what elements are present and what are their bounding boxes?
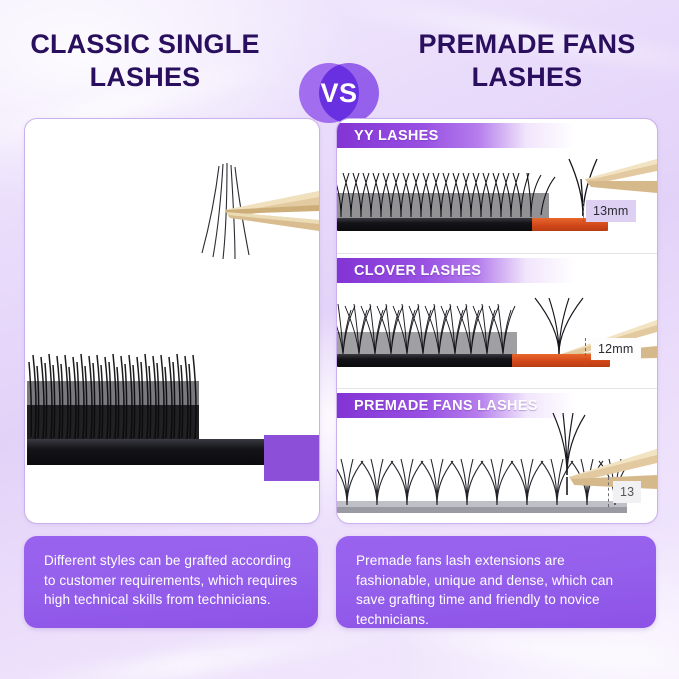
measurement-label-premade: 13 — [613, 481, 641, 503]
section-label: PREMADE FANS LASHES — [354, 398, 538, 414]
lash-strip-base-clover — [337, 354, 513, 367]
section-yy-lashes: YY LASHES — [337, 119, 657, 253]
section-clover-lashes: CLOVER LASHES — [337, 254, 657, 388]
classic-single-lashes-card — [24, 118, 320, 524]
individual-lashes-illustration — [25, 119, 319, 523]
left-caption: Different styles can be grafted accordin… — [24, 536, 318, 628]
right-panel-title: PREMADE FANS LASHES — [390, 28, 664, 94]
infographic-canvas: CLASSIC SINGLE LASHES VS PREMADE FANS LA… — [0, 0, 679, 679]
measurement-label-yy: 13mm — [586, 200, 636, 222]
measurement-label-clover: 12mm — [591, 338, 641, 360]
vs-label: VS — [299, 63, 379, 123]
section-premade-fans-lashes: PREMADE FANS LASHES — [337, 389, 657, 523]
classic-lashes-image — [25, 119, 319, 523]
header: CLASSIC SINGLE LASHES VS PREMADE FANS LA… — [0, 28, 679, 104]
left-panel-title: CLASSIC SINGLE LASHES — [8, 28, 282, 94]
right-caption: Premade fans lash extensions are fashion… — [336, 536, 656, 628]
measure-tick-yy — [583, 201, 584, 227]
measure-tick-clover — [585, 338, 586, 366]
section-label: CLOVER LASHES — [354, 263, 481, 279]
section-label: YY LASHES — [354, 128, 439, 144]
vs-badge: VS — [299, 63, 379, 123]
lash-strip-base-yy — [337, 218, 533, 231]
premade-fans-lashes-card: YY LASHES — [336, 118, 658, 524]
measure-tick-premade — [608, 477, 609, 507]
